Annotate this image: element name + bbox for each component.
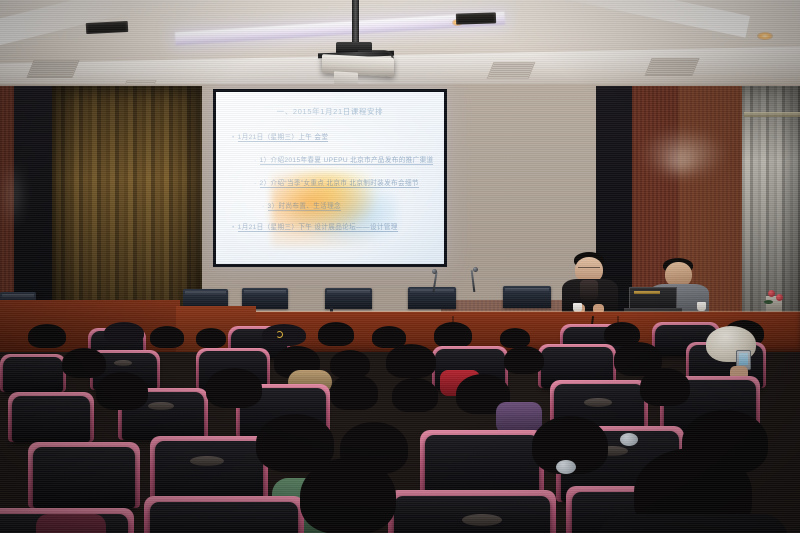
attendee-front-maroon [36,514,106,533]
attendee-head-front-1 [300,458,396,533]
curtain-rod-right [744,112,800,117]
downlight-right-icon [757,32,773,40]
water-cup-right [697,302,706,311]
presenter-scarf [580,280,598,300]
attendee-black-cap [104,322,144,344]
attendee-head [640,368,690,406]
air-vent-center-icon [487,62,536,79]
attendee-head [196,328,226,348]
attendee-head [150,326,184,348]
wall-reflection-highlight-2 [660,150,700,176]
flower-icon-2 [776,294,783,301]
attendee-head [318,322,354,346]
stage-chair-5 [503,286,551,308]
microphone-head-right-icon [473,267,478,272]
seated-audience [0,318,800,533]
microphone-head-left-icon [432,269,437,274]
seat [150,502,298,533]
stage-chair-3 [325,288,372,309]
suspended-ceiling [0,0,800,92]
cap-logo-icon [276,331,283,338]
screen-sheen [216,92,444,264]
stage-curtain-left-shading [52,86,202,318]
seat [12,396,90,442]
ceiling-speaker-right-icon [456,12,496,24]
attendee-black-cap-2 [262,324,306,346]
attendee-head [28,324,66,348]
seat-badge-icon [114,360,132,366]
presenter-glasses-icon [578,267,600,272]
seat-badge-icon [148,402,174,410]
ceiling-speaker-left-icon [86,21,129,34]
air-vent-left-icon [26,60,79,78]
wall-reflection-highlight-3 [0,160,26,230]
attendee-head [392,378,438,412]
phone-screen [739,353,748,365]
lecture-hall-photo: 一、2015年1月21日课程安排 •1月21日（星期三）上午 会堂 ·1）介绍2… [0,0,800,533]
projection-screen-surface: 一、2015年1月21日课程安排 •1月21日（星期三）上午 会堂 ·1）介绍2… [216,92,444,264]
flower-icon-1 [768,290,775,297]
attendee-head [386,344,436,378]
attendee-head [504,346,544,374]
attendee-front-shoulder [598,514,788,533]
air-vent-right-icon [644,58,699,76]
attendee-head [500,328,530,348]
ceiling-cove-right [540,0,750,38]
attendee-head [206,368,262,408]
hair-scrunchie-icon-2 [620,433,638,446]
attendee-head [330,374,378,410]
hair-scrunchie-icon [556,460,576,474]
attendee-head [62,348,106,378]
seat [33,447,135,508]
seat [3,357,63,392]
projection-screen: 一、2015年1月21日课程安排 •1月21日（星期三）上午 会堂 ·1）介绍2… [213,89,447,267]
seat-badge-icon [190,456,224,466]
ceiling-projector-icon [322,54,394,77]
attendee-head [96,372,148,410]
projector-mount-pole [352,0,359,48]
seat-badge-icon [462,514,502,526]
laptop-logo-strip [634,291,660,294]
leaf-icon [764,300,773,304]
attendee-head [434,322,472,348]
seat-badge-icon [584,398,612,407]
